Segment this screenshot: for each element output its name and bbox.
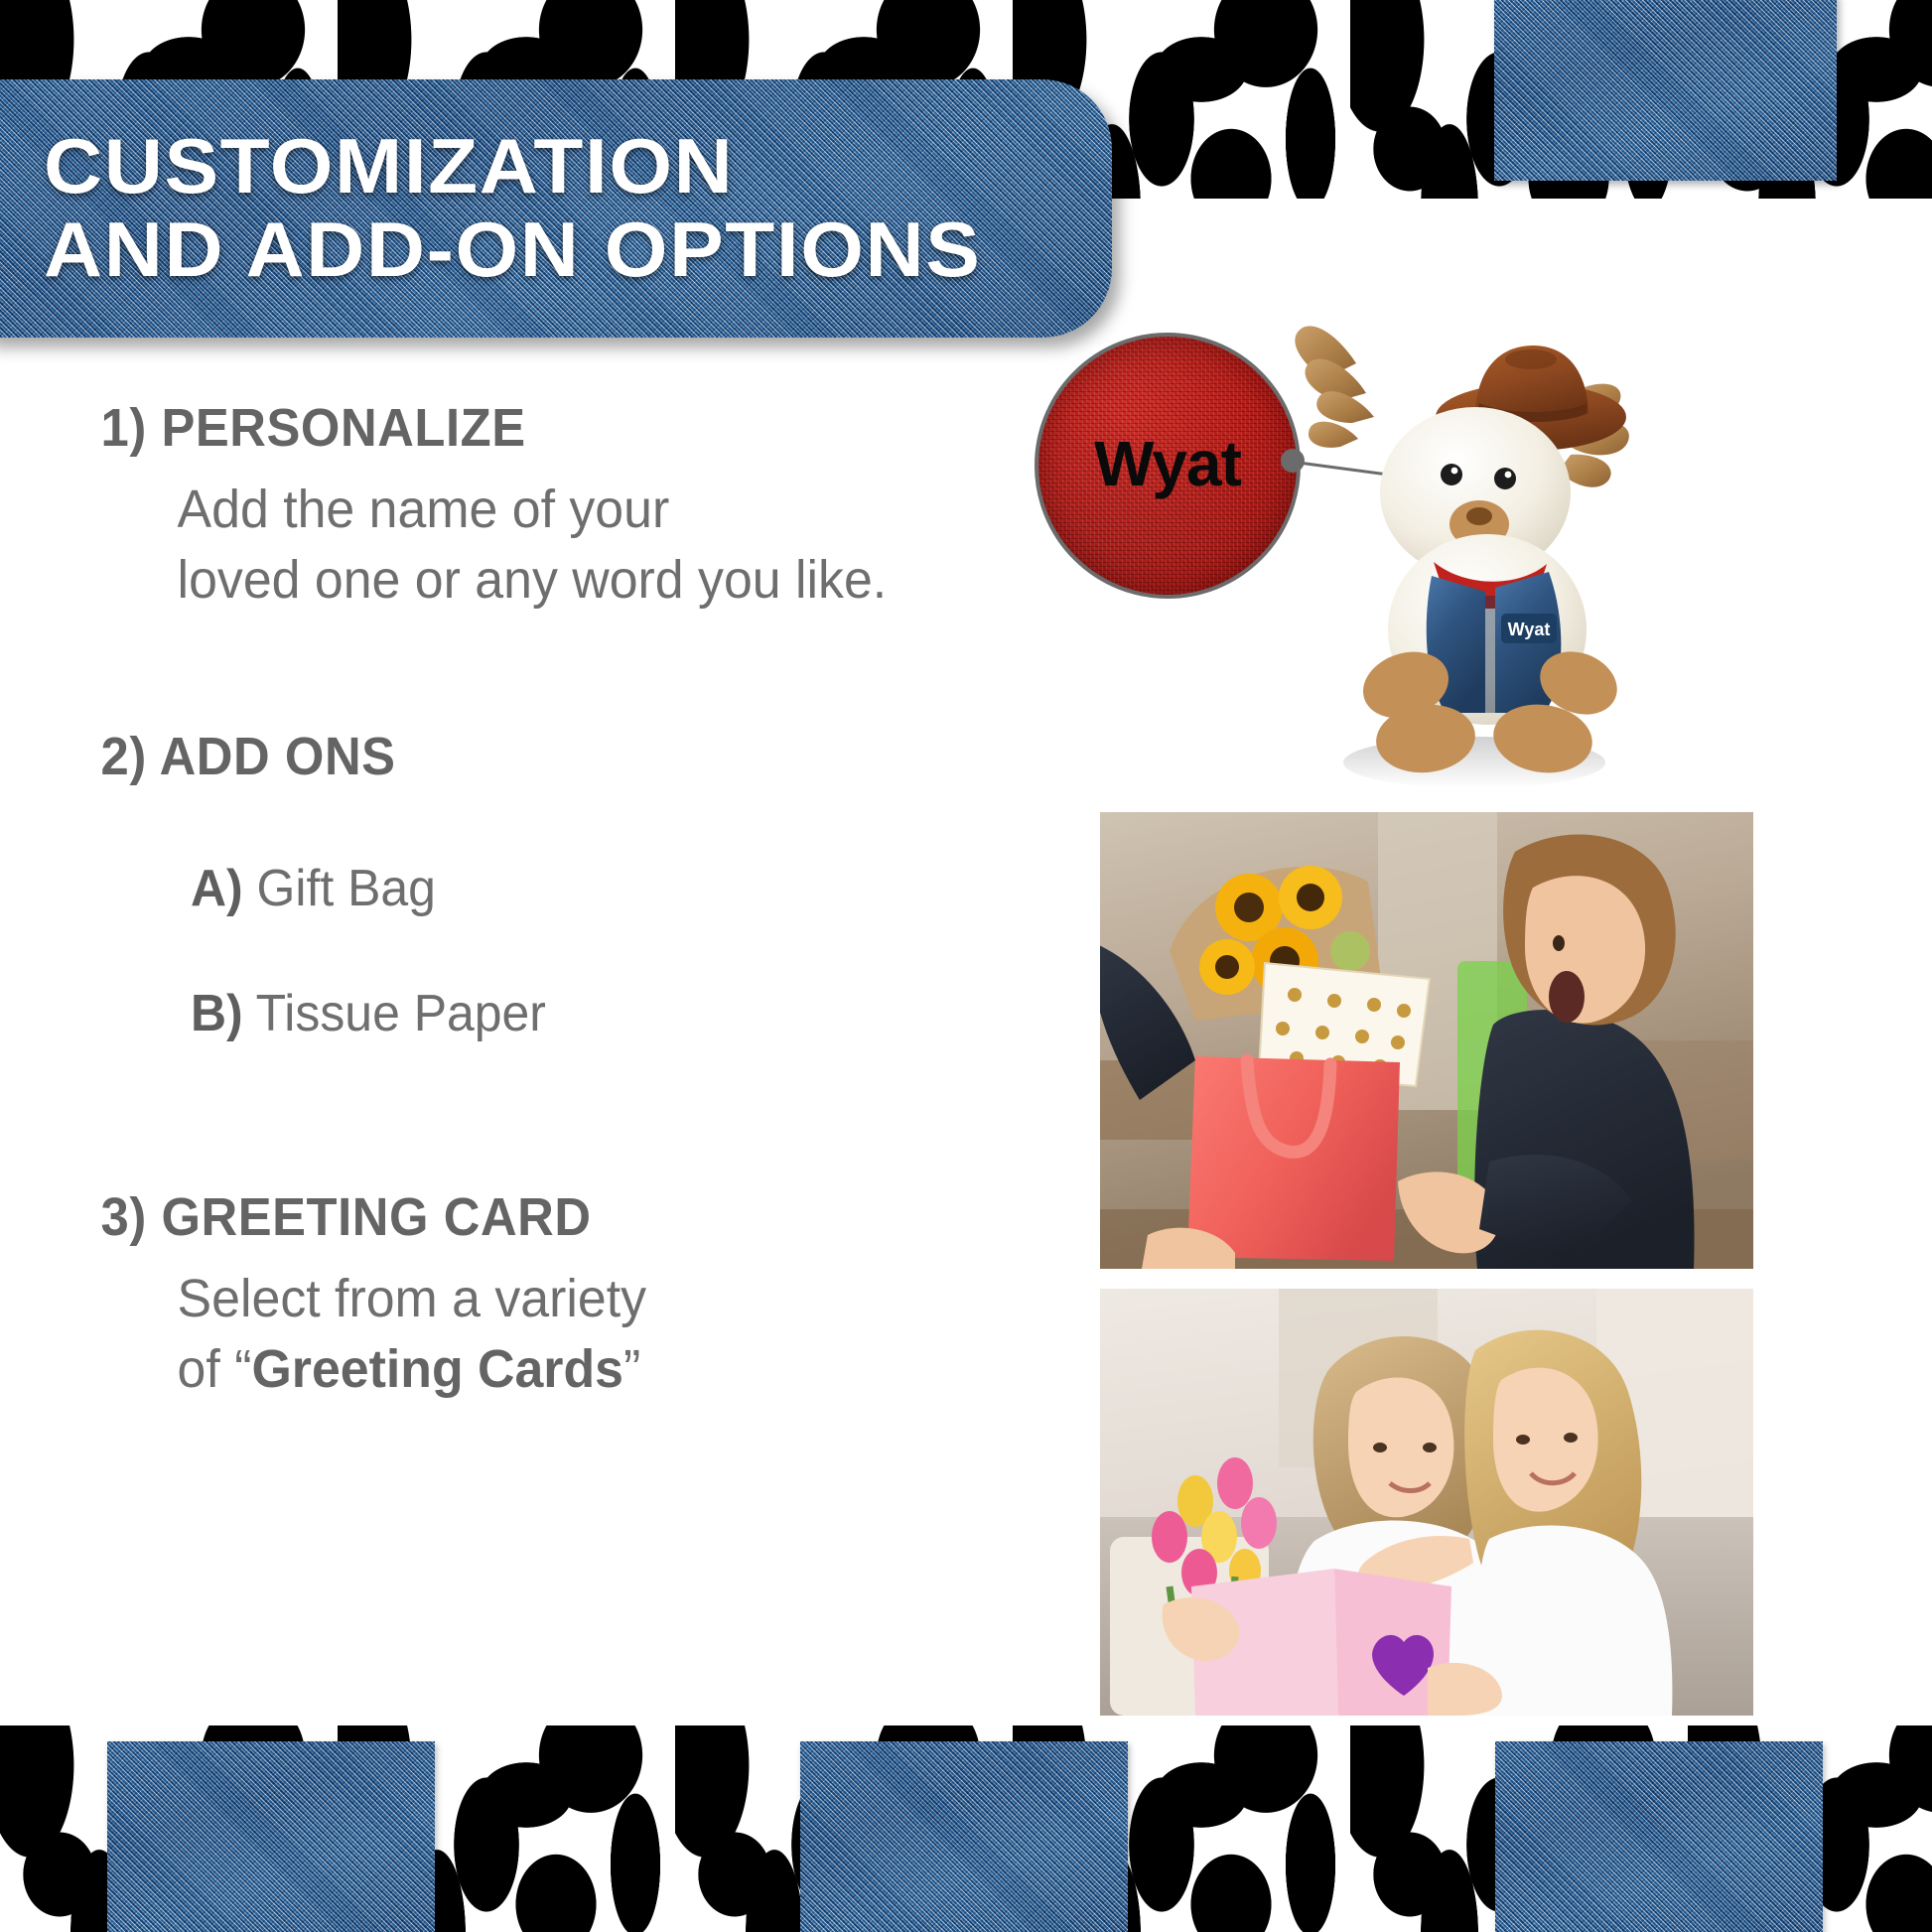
antler-left-icon: [1295, 326, 1374, 448]
eye-left-icon: [1441, 464, 1462, 485]
bottom-denim-tile-1: [107, 1741, 435, 1932]
add-on-item-gift-bag[interactable]: A) Gift Bag: [0, 859, 1011, 918]
step-2-heading: 2) ADD ONS: [0, 726, 989, 787]
red-gift-bag: [1187, 1056, 1400, 1261]
boy-open-mouth: [1549, 971, 1585, 1023]
page-title-line-1: CUSTOMIZATION: [44, 127, 1112, 207]
step-greeting-card: 3) GREETING CARD Select from a variety o…: [0, 1186, 1052, 1406]
top-denim-accent-block: [1494, 0, 1837, 181]
step-1-body: Add the name of your loved one or any wo…: [0, 475, 1011, 617]
step-1-body-line-2: loved one or any word you like.: [178, 545, 1011, 616]
header-banner: CUSTOMIZATION AND ADD-ON OPTIONS: [0, 79, 1112, 338]
gift-bag-photo: [1100, 812, 1753, 1269]
greeting-card-photo: [1100, 1289, 1753, 1716]
personalized-name-text: Wyat: [1094, 427, 1241, 500]
eye-right-icon: [1494, 468, 1516, 489]
add-on-label-tissue-paper: Tissue Paper: [256, 985, 546, 1042]
step-3-heading: 3) GREETING CARD: [0, 1186, 989, 1248]
boy-eye: [1553, 935, 1565, 951]
add-on-item-tissue-paper[interactable]: B) Tissue Paper: [0, 984, 1011, 1043]
add-on-marker-b: B): [191, 985, 243, 1042]
step-add-ons: 2) ADD ONS A) Gift Bag B) Tissue Paper: [0, 726, 1052, 1043]
step-3-body-line-1: Select from a variety: [178, 1264, 1011, 1334]
slide-root: CUSTOMIZATION AND ADD-ON OPTIONS 1) PERS…: [0, 0, 1932, 1932]
plush-moose-toy-image: Wyat: [1281, 298, 1658, 794]
add-on-label-gift-bag: Gift Bag: [257, 860, 436, 917]
personalization-badge-callout: Wyat: [1035, 333, 1301, 599]
steps-list: 1) PERSONALIZE Add the name of your love…: [0, 397, 1052, 1427]
step-1-body-line-1: Add the name of your: [178, 475, 1011, 545]
step-3-body: Select from a variety of “Greeting Cards…: [0, 1264, 1011, 1406]
step-3-body-line-2: of “Greeting Cards”: [178, 1334, 1011, 1405]
step-3-quote-close: ”: [623, 1339, 640, 1399]
step-3-greeting-cards-emphasis: Greeting Cards: [251, 1339, 623, 1399]
nose-icon: [1466, 507, 1492, 525]
step-personalize: 1) PERSONALIZE Add the name of your love…: [0, 397, 1052, 617]
bottom-denim-tile-3: [1495, 1741, 1823, 1932]
plush-name-patch-text: Wyat: [1508, 620, 1551, 639]
step-3-quote-open: of “: [178, 1339, 252, 1399]
bottom-border-cow-print: [0, 1725, 1932, 1932]
bottom-denim-tile-2: [800, 1741, 1128, 1932]
add-on-marker-a: A): [191, 860, 243, 917]
page-title-line-2: AND ADD-ON OPTIONS: [44, 210, 1112, 290]
step-1-heading: 1) PERSONALIZE: [0, 397, 989, 459]
